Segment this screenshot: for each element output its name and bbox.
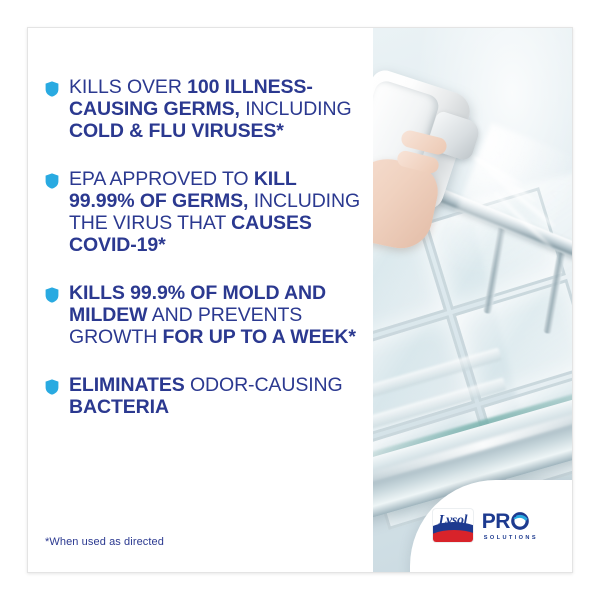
claims-panel: KILLS OVER 100 ILLNESS-CAUSING GERMS, IN… <box>28 28 373 572</box>
claim-item: KILLS 99.9% OF MOLD AND MILDEW AND PREVE… <box>45 282 365 348</box>
claims-list: KILLS OVER 100 ILLNESS-CAUSING GERMS, IN… <box>45 76 365 418</box>
claim-text-bold: FOR UP TO A WEEK* <box>163 326 356 348</box>
claim-text-regular: KILLS OVER <box>69 76 187 98</box>
lysol-swoosh-red <box>433 530 473 542</box>
shield-icon <box>45 81 59 97</box>
pro-wordmark: PR <box>482 511 529 532</box>
claim-text-bold: COLD & FLU VIRUSES* <box>69 120 284 142</box>
shield-icon <box>45 287 59 303</box>
claim-text: KILLS 99.9% OF MOLD AND MILDEW AND PREVE… <box>69 282 365 348</box>
claim-text-regular: INCLUDING <box>240 98 352 120</box>
brand-lockup-row: Lysol PR SOLUTIONS <box>433 509 538 542</box>
pro-subtitle: SOLUTIONS <box>484 535 538 541</box>
shield-icon <box>45 173 59 189</box>
claim-item: KILLS OVER 100 ILLNESS-CAUSING GERMS, IN… <box>45 76 365 142</box>
pro-wordmark-text: PR <box>482 511 510 532</box>
footnote-disclaimer: *When used as directed <box>45 536 164 548</box>
product-claims-card: KILLS OVER 100 ILLNESS-CAUSING GERMS, IN… <box>27 27 573 573</box>
claim-item: ELIMINATES ODOR-CAUSING BACTERIA <box>45 374 365 418</box>
product-photo: Lysol PR SOLUTIONS <box>373 28 572 572</box>
claim-text-bold: BACTERIA <box>69 396 169 418</box>
shield-icon <box>45 379 59 395</box>
claim-text: ELIMINATES ODOR-CAUSING BACTERIA <box>69 374 365 418</box>
pro-solutions-logo: PR SOLUTIONS <box>482 511 538 541</box>
lysol-logo: Lysol <box>433 509 473 542</box>
claim-text-regular: ODOR-CAUSING <box>185 374 343 396</box>
claim-text-regular: EPA APPROVED TO <box>69 168 254 190</box>
claim-text-bold: ELIMINATES <box>69 374 185 396</box>
swirl-o-icon <box>511 512 529 530</box>
claim-text: KILLS OVER 100 ILLNESS-CAUSING GERMS, IN… <box>69 76 365 142</box>
claim-text: EPA APPROVED TO KILL 99.99% OF GERMS, IN… <box>69 168 365 256</box>
claim-item: EPA APPROVED TO KILL 99.99% OF GERMS, IN… <box>45 168 365 256</box>
